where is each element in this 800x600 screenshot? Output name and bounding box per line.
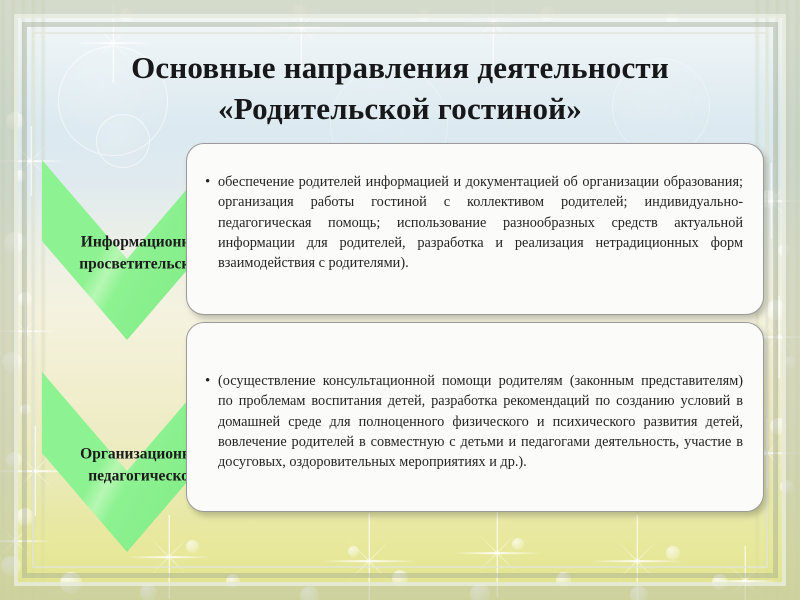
sparkle-icon bbox=[112, 42, 114, 44]
card-body: • (осуществление консультационной помощи… bbox=[205, 371, 743, 472]
sparkle-icon bbox=[744, 580, 746, 582]
bokeh-dot bbox=[300, 586, 319, 600]
slide-title-line-1: Основные направления деятельности bbox=[80, 48, 720, 89]
bokeh-dot bbox=[712, 574, 728, 590]
bokeh-dot bbox=[1, 556, 21, 576]
bokeh-dot bbox=[18, 292, 32, 306]
bokeh-dot bbox=[292, 4, 308, 20]
sparkle-icon bbox=[24, 330, 26, 332]
sparkle-icon bbox=[766, 452, 768, 454]
bokeh-dot bbox=[418, 10, 430, 22]
sparkle-icon bbox=[14, 540, 16, 542]
sparkle-icon bbox=[368, 560, 370, 562]
slide-title-line-2: «Родительской гостиной» bbox=[80, 89, 720, 130]
card-text: обеспечение родителей информацией и доку… bbox=[205, 172, 743, 273]
bokeh-dot bbox=[540, 6, 555, 21]
bokeh-dot bbox=[778, 244, 791, 257]
direction-description-card-organizational: • (осуществление консультационной помощи… bbox=[186, 322, 764, 512]
bokeh-dot bbox=[140, 584, 157, 600]
bokeh-dot bbox=[120, 8, 134, 22]
sparkle-icon bbox=[770, 200, 772, 202]
bokeh-dot bbox=[392, 570, 408, 586]
bullet-icon: • bbox=[205, 172, 210, 193]
bokeh-dot bbox=[20, 404, 31, 415]
sparkle-icon bbox=[30, 160, 32, 162]
sparkle-icon bbox=[636, 560, 638, 562]
bokeh-dot bbox=[4, 232, 26, 254]
bokeh-dot bbox=[556, 572, 571, 587]
sparkle-icon bbox=[168, 556, 170, 558]
sparkle-icon bbox=[496, 552, 498, 554]
sparkle-icon bbox=[300, 26, 302, 28]
bokeh-dot bbox=[16, 508, 34, 526]
bullet-icon: • bbox=[205, 371, 210, 392]
bokeh-dot bbox=[784, 356, 796, 368]
slide-canvas: Основные направления деятельности «Родит… bbox=[0, 0, 800, 600]
bokeh-dot bbox=[666, 12, 679, 25]
direction-description-card-informational: • обеспечение родителей информацией и до… bbox=[186, 143, 764, 315]
bokeh-dot bbox=[766, 300, 786, 320]
bokeh-dot bbox=[348, 546, 359, 557]
bokeh-dot bbox=[512, 538, 524, 550]
bokeh-dot bbox=[14, 170, 26, 182]
bokeh-dot bbox=[226, 574, 240, 588]
bokeh-dot bbox=[770, 418, 787, 435]
slide-title: Основные направления деятельности «Родит… bbox=[80, 48, 720, 130]
bokeh-dot bbox=[6, 112, 24, 130]
bokeh-dot bbox=[60, 572, 82, 594]
sparkle-icon bbox=[492, 22, 494, 24]
sparkle-icon bbox=[34, 470, 36, 472]
bokeh-dot bbox=[780, 480, 794, 494]
card-text: (осуществление консультационной помощи р… bbox=[205, 371, 743, 472]
bokeh-dot bbox=[666, 546, 680, 560]
left-border-stripes bbox=[0, 0, 46, 600]
bokeh-dot bbox=[470, 584, 490, 600]
sparkle-icon bbox=[778, 336, 780, 338]
bokeh-dot bbox=[2, 352, 22, 372]
card-body: • обеспечение родителей информацией и до… bbox=[205, 172, 743, 273]
bokeh-dot bbox=[6, 452, 22, 468]
bokeh-dot bbox=[630, 586, 648, 600]
